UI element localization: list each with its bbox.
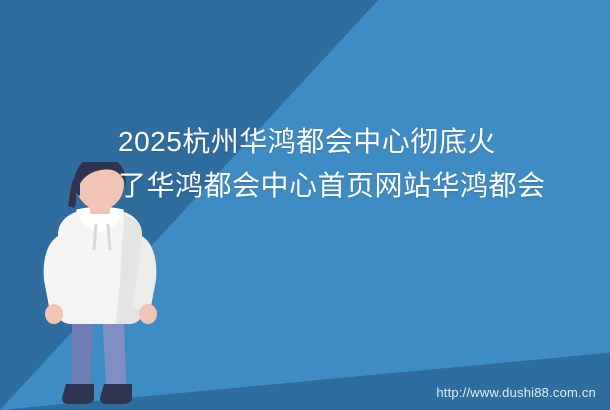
banner-headline: 2025杭州华鸿都会中心彻底火 了华鸿都会中心首页网站华鸿都会 xyxy=(118,120,588,208)
promo-banner: 2025杭州华鸿都会中心彻底火 了华鸿都会中心首页网站华鸿都会 http://w… xyxy=(0,0,610,410)
site-url-watermark: http://www.dushi88.com.cn xyxy=(436,385,596,400)
